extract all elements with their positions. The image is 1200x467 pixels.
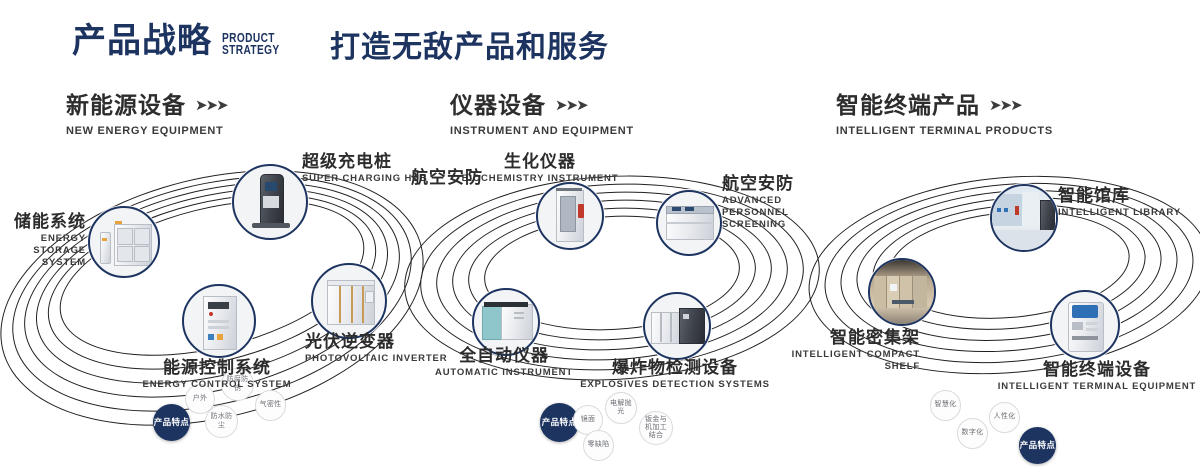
chevron-right-icon: ➤➤➤: [195, 98, 227, 113]
biochemistry-artwork: [538, 184, 602, 248]
caption-automatic-instrument: 全自动仪器 AUTOMATIC INSTRUMENT: [418, 346, 590, 379]
section-label: 智能终端产品: [836, 94, 980, 117]
node-intelligent-library[interactable]: [990, 184, 1058, 252]
feature-bubble-airtight: 气密性: [255, 390, 286, 421]
caption-cn: 爆炸物检测设备: [580, 358, 770, 377]
brand-block: 产品战略 PRODUCT STRATEGY: [72, 24, 296, 58]
inverter-artwork: [313, 265, 385, 337]
caption-cn: 能源控制系统: [126, 358, 308, 377]
node-energy-control-system[interactable]: [182, 284, 256, 358]
charging-hub-artwork: [234, 166, 306, 238]
node-advanced-personnel-screening[interactable]: [656, 190, 722, 256]
library-artwork: [992, 186, 1056, 250]
caption-cn: 航空安防: [411, 168, 483, 187]
caption-cn: 智能馆库: [1058, 186, 1181, 205]
headline: 打造无敌产品和服务: [330, 33, 609, 63]
node-super-charging-hub[interactable]: [232, 164, 308, 240]
caption-en: ENERGY STORAGE SYSTEM: [0, 233, 86, 269]
section-title-intelligent: 智能终端产品 ➤➤➤ INTELLIGENT TERMINAL PRODUCTS: [836, 94, 1053, 137]
caption-explosives-detection: 爆炸物检测设备 EXPLOSIVES DETECTION SYSTEMS: [580, 358, 770, 391]
core-badge-product-features: 产品特点: [1019, 427, 1056, 464]
caption-en: ENERGY CONTROL SYSTEM: [126, 379, 308, 391]
energy-control-artwork: [184, 286, 254, 356]
caption-en: AUTOMATIC INSTRUMENT: [418, 367, 590, 379]
section-title-en: INTELLIGENT TERMINAL PRODUCTS: [836, 125, 1053, 137]
page-root: 产品战略 PRODUCT STRATEGY 打造无敌产品和服务 新能源设备 ➤➤…: [0, 0, 1200, 422]
section-title-en: INSTRUMENT AND EQUIPMENT: [450, 125, 634, 137]
chevron-right-icon: ➤➤➤: [989, 98, 1021, 113]
caption-cn: 航空安防: [722, 174, 812, 193]
chevron-right-icon: ➤➤➤: [555, 98, 587, 113]
feature-bubble-humanized: 人性化: [989, 402, 1020, 433]
section-title-new-energy: 新能源设备 ➤➤➤ NEW ENERGY EQUIPMENT: [66, 94, 227, 137]
section-label: 新能源设备: [66, 94, 186, 117]
caption-cn: 生化仪器: [460, 152, 620, 171]
brand-title-en: PRODUCT STRATEGY: [222, 32, 280, 56]
node-energy-storage[interactable]: [88, 206, 160, 278]
node-explosives-detection[interactable]: [643, 292, 711, 360]
feature-bubble-smart: 智慧化: [930, 390, 961, 421]
caption-energy-storage: 储能系统 ENERGY STORAGE SYSTEM: [0, 212, 86, 269]
caption-cn: 全自动仪器: [418, 346, 590, 365]
caption-en: EXPLOSIVES DETECTION SYSTEMS: [580, 379, 770, 391]
core-badge-product-features: 产品特点: [153, 404, 190, 441]
caption-en: INTELLIGENT LIBRARY: [1058, 207, 1181, 219]
section-title-en: NEW ENERGY EQUIPMENT: [66, 125, 227, 137]
brand-title-cn: 产品战略: [72, 24, 212, 58]
feature-bubble-digital: 数字化: [957, 418, 988, 449]
brand-title-en-line2: STRATEGY: [222, 44, 280, 56]
caption-advanced-personnel-screening: 航空安防 ADVANCED PERSONNEL SCREENING: [722, 174, 812, 231]
caption-en: INTELLIGENT COMPACT SHELF: [778, 349, 920, 373]
feature-bubble-electropolish: 电解抛光: [605, 392, 637, 424]
section-title-cn: 仪器设备 ➤➤➤: [450, 94, 634, 117]
caption-intelligent-terminal-equipment: 智能终端设备 INTELLIGENT TERMINAL EQUIPMENT: [996, 360, 1198, 393]
node-biochemistry-instrument[interactable]: [536, 182, 604, 250]
node-intelligent-terminal-equipment[interactable]: [1050, 290, 1120, 360]
caption-en: BIOCHEMISTRY INSTRUMENT: [460, 173, 620, 185]
caption-en: INTELLIGENT TERMINAL EQUIPMENT: [996, 381, 1198, 393]
caption-cn: 储能系统: [0, 212, 86, 231]
caption-cn: 智能密集架: [778, 328, 920, 347]
caption-aviation-security-left: 航空安防: [411, 168, 483, 187]
energy-storage-artwork: [90, 208, 158, 276]
feature-bubble-zero-defect: 零缺陷: [583, 430, 614, 461]
terminal-equipment-artwork: [1052, 292, 1118, 358]
caption-intelligent-compact-shelf: 智能密集架 INTELLIGENT COMPACT SHELF: [778, 328, 920, 373]
cluster-instrument: 产品特点 镜面 电解抛光 零缺陷 钣金与机加工结合 生化仪器 BIOCHEMIS…: [400, 150, 820, 400]
section-title-cn: 新能源设备 ➤➤➤: [66, 94, 227, 117]
section-label: 仪器设备: [450, 94, 546, 117]
compact-shelf-artwork: [870, 260, 934, 324]
node-photovoltaic-inverter[interactable]: [311, 263, 387, 339]
caption-biochemistry-instrument: 生化仪器 BIOCHEMISTRY INSTRUMENT: [460, 152, 620, 185]
feature-bubble-sheetmetal-machining: 钣金与机加工结合: [639, 411, 673, 445]
explosives-detection-artwork: [645, 294, 709, 358]
cluster-intelligent-terminal: 智慧化 数字化 人性化 产品特点 智能馆库 INTELLIGENT LIBRAR…: [800, 150, 1200, 400]
node-intelligent-compact-shelf[interactable]: [868, 258, 936, 326]
caption-cn: 智能终端设备: [996, 360, 1198, 379]
caption-en: ADVANCED PERSONNEL SCREENING: [722, 195, 812, 231]
caption-energy-control-system: 能源控制系统 ENERGY CONTROL SYSTEM: [126, 358, 308, 391]
caption-intelligent-library: 智能馆库 INTELLIGENT LIBRARY: [1058, 186, 1181, 219]
section-title-instrument: 仪器设备 ➤➤➤ INSTRUMENT AND EQUIPMENT: [450, 94, 634, 137]
screening-artwork: [658, 192, 720, 254]
cluster-new-energy: 户外 防腐防锈 防水防尘 气密性 产品特点 储能系统 ENERGY STORAG…: [0, 150, 420, 400]
automatic-instrument-artwork: [474, 290, 538, 354]
section-title-cn: 智能终端产品 ➤➤➤: [836, 94, 1053, 117]
